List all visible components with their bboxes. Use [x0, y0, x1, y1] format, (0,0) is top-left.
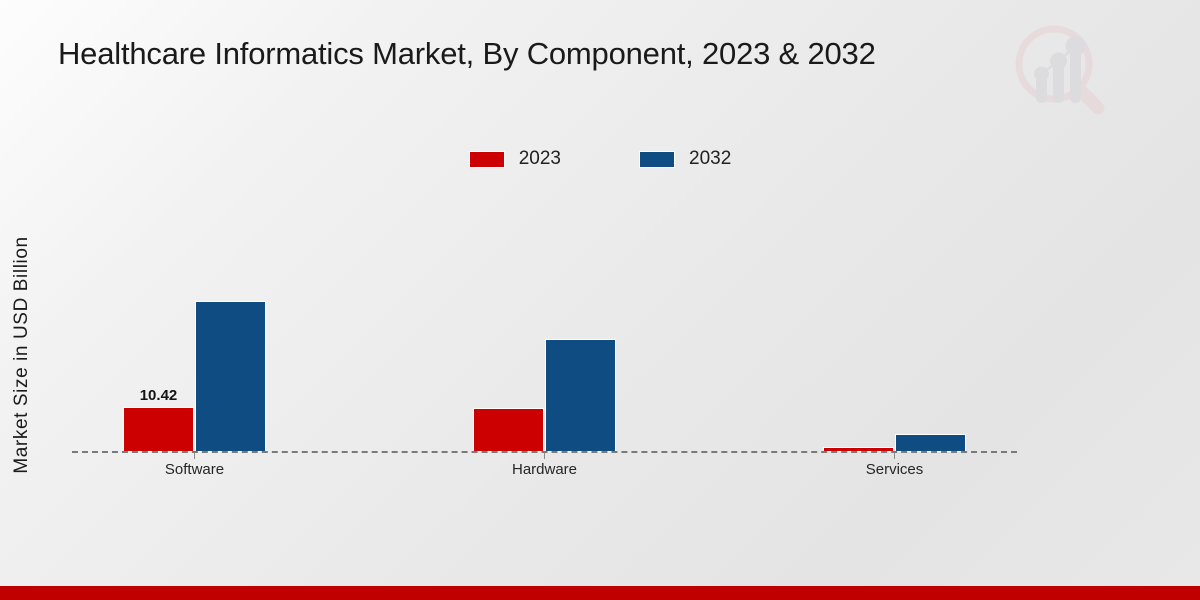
- magnifier-bar-chart-logo-watermark: [1008, 18, 1112, 122]
- bar-hardware-2023[interactable]: [473, 408, 544, 452]
- legend-item-2023[interactable]: 2023: [469, 148, 561, 170]
- bar-software-2032[interactable]: [195, 301, 266, 452]
- bars-layer: 10.42 Software Hardware Services: [72, 190, 1017, 452]
- category-label-software: Software: [83, 461, 306, 478]
- legend-label-2032: 2032: [689, 148, 731, 170]
- x-axis-baseline: [72, 451, 1017, 453]
- axis-tick-hardware: [544, 452, 545, 459]
- axis-tick-services: [894, 452, 895, 459]
- bar-hardware-2032[interactable]: [545, 339, 616, 452]
- category-label-services: Services: [783, 461, 1006, 478]
- page-title: Healthcare Informatics Market, By Compon…: [58, 36, 876, 72]
- y-axis-title: Market Size in USD Billion: [11, 190, 33, 520]
- plot-area: 10.42 Software Hardware Services: [72, 190, 1017, 453]
- legend-item-2032[interactable]: 2032: [639, 148, 731, 170]
- chart-page: Healthcare Informatics Market, By Compon…: [0, 0, 1200, 600]
- bar-group-hardware: Hardware: [473, 190, 616, 452]
- footer-accent-band: [0, 586, 1200, 600]
- category-label-hardware: Hardware: [433, 461, 656, 478]
- legend-swatch-2023: [469, 151, 505, 168]
- legend-label-2023: 2023: [519, 148, 561, 170]
- chart-legend: 2023 2032: [0, 148, 1200, 170]
- bar-software-2023[interactable]: [123, 407, 194, 452]
- bar-group-services: Services: [823, 190, 966, 452]
- bar-services-2032[interactable]: [895, 434, 966, 452]
- axis-tick-software: [194, 452, 195, 459]
- legend-swatch-2032: [639, 151, 675, 168]
- bar-group-software: 10.42 Software: [123, 190, 266, 452]
